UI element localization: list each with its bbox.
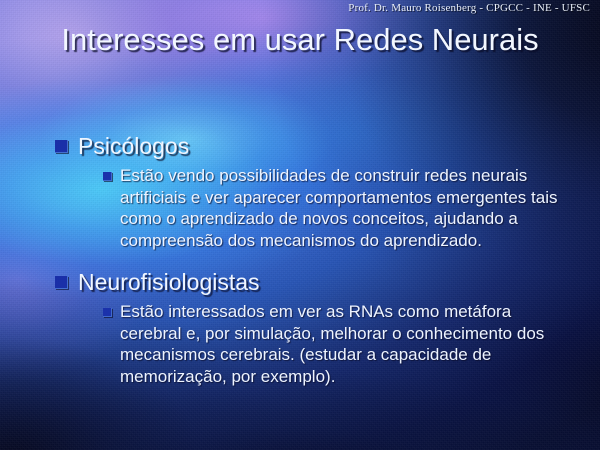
slide-title: Interesses em usar Redes Neurais bbox=[40, 20, 560, 59]
bullet-level1: Neurofisiologistas bbox=[55, 267, 588, 297]
square-sub-bullet-icon bbox=[103, 308, 112, 317]
square-sub-bullet-icon bbox=[103, 172, 112, 181]
bullet-group: Neurofisiologistas Estão interessados em… bbox=[55, 267, 588, 387]
square-bullet-icon bbox=[55, 276, 68, 289]
presentation-slide: Prof. Dr. Mauro Roisenberg - CPGCC - INE… bbox=[0, 0, 600, 450]
slide-header-note: Prof. Dr. Mauro Roisenberg - CPGCC - INE… bbox=[348, 2, 590, 14]
bullet-level2-text: Estão interessados em ver as RNAs como m… bbox=[120, 301, 560, 387]
bullet-level1: Psicólogos bbox=[55, 131, 588, 161]
bullet-level2: Estão vendo possibilidades de construir … bbox=[103, 165, 588, 251]
slide-body: Psicólogos Estão vendo possibilidades de… bbox=[55, 131, 588, 387]
bullet-level2: Estão interessados em ver as RNAs como m… bbox=[103, 301, 588, 387]
bullet-level1-label: Neurofisiologistas bbox=[78, 267, 260, 297]
square-bullet-icon bbox=[55, 140, 68, 153]
bullet-group: Psicólogos Estão vendo possibilidades de… bbox=[55, 131, 588, 251]
bullet-level2-text: Estão vendo possibilidades de construir … bbox=[120, 165, 560, 251]
bullet-level1-label: Psicólogos bbox=[78, 131, 189, 161]
slide-content: Prof. Dr. Mauro Roisenberg - CPGCC - INE… bbox=[0, 0, 600, 450]
